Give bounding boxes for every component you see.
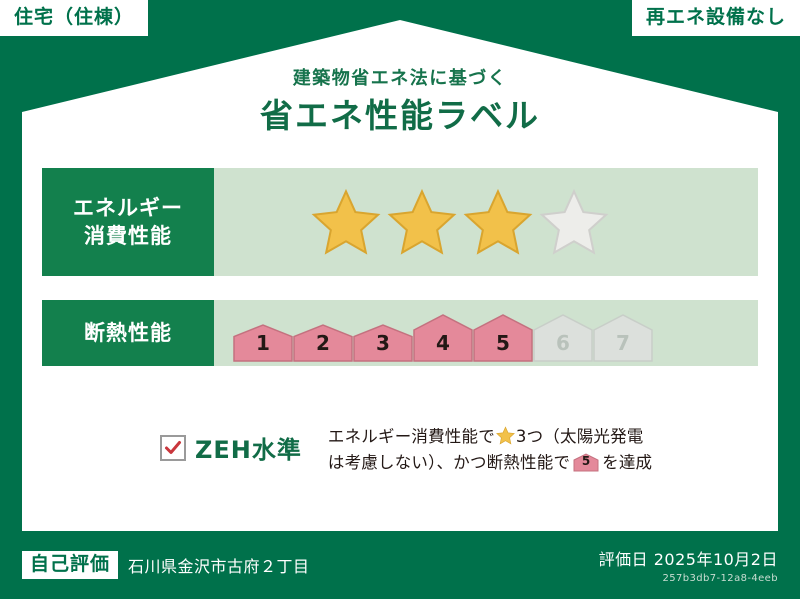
insulation-performance-value: 1234567 xyxy=(214,300,758,366)
footer-left: 自己評価 石川県金沢市古府２丁目 xyxy=(22,551,310,579)
zeh-standard-row: ZEH水準 エネルギー消費性能で 3つ（太陽光発電 は考慮しない）、かつ断熱性能… xyxy=(42,424,758,475)
insulation-grade-value: 4 xyxy=(412,331,474,355)
zeh-desc-part2: 3つ（太陽光発電 xyxy=(516,427,644,446)
star-icon-filled xyxy=(386,187,458,257)
evaluation-date: 評価日 2025年10月2日 xyxy=(599,546,778,570)
document-id: 257b3db7-12a8-4eeb xyxy=(599,573,778,584)
building-type-badge: 住宅（住棟） xyxy=(0,0,148,36)
energy-performance-row: エネルギー 消費性能 xyxy=(42,168,758,276)
insulation-label-text: 断熱性能 xyxy=(84,319,172,347)
energy-performance-label: エネルギー 消費性能 xyxy=(42,168,214,276)
star-icon-empty xyxy=(538,187,610,257)
star-icon xyxy=(496,426,515,445)
energy-performance-label: 住宅（住棟） 再エネ設備なし 建築物省エネ法に基づく 省エネ性能ラベル エネルギ… xyxy=(0,0,800,599)
zeh-desc-part1: エネルギー消費性能で xyxy=(328,427,495,446)
insulation-grade-5: 5 xyxy=(472,313,534,363)
zeh-desc-part3: は考慮しない）、かつ断熱性能で xyxy=(328,453,570,472)
insulation-grade-1: 1 xyxy=(232,323,294,363)
zeh-standard-name: ZEH水準 xyxy=(195,430,302,465)
zeh-desc-part4: を達成 xyxy=(602,453,652,472)
insulation-grade-7: 7 xyxy=(592,313,654,363)
star-rating xyxy=(310,187,610,257)
insulation-grade-value: 6 xyxy=(532,331,594,355)
insulation-performance-label: 断熱性能 xyxy=(42,300,214,366)
renewable-energy-badge: 再エネ設備なし xyxy=(632,0,800,36)
zeh-mark: ZEH水準 xyxy=(160,430,302,465)
footer-right: 評価日 2025年10月2日 257b3db7-12a8-4eeb xyxy=(599,546,778,584)
zeh-desc-grade-value: 5 xyxy=(573,452,599,471)
insulation-grade-3: 3 xyxy=(352,323,414,363)
insulation-grade-value: 5 xyxy=(472,331,534,355)
insulation-grade-value: 3 xyxy=(352,331,414,355)
insulation-grade-value: 1 xyxy=(232,331,294,355)
footer: 自己評価 石川県金沢市古府２丁目 評価日 2025年10月2日 257b3db7… xyxy=(0,531,800,599)
insulation-grade-value: 7 xyxy=(592,331,654,355)
insulation-performance-row: 断熱性能 1234567 xyxy=(42,300,758,366)
zeh-checkbox[interactable] xyxy=(160,435,186,461)
star-icon-filled xyxy=(462,187,534,257)
insulation-grade-scale: 1234567 xyxy=(232,297,652,369)
zeh-description: エネルギー消費性能で 3つ（太陽光発電 は考慮しない）、かつ断熱性能で 5 を達… xyxy=(328,424,758,475)
energy-label-line1: エネルギー xyxy=(73,194,183,222)
evaluation-type-badge: 自己評価 xyxy=(22,551,118,579)
zeh-desc-grade-badge: 5 xyxy=(573,453,599,472)
energy-label-line2: 消費性能 xyxy=(84,222,172,250)
insulation-grade-4: 4 xyxy=(412,313,474,363)
insulation-grade-2: 2 xyxy=(292,323,354,363)
property-address: 石川県金沢市古府２丁目 xyxy=(128,553,310,577)
check-icon xyxy=(164,439,182,457)
energy-performance-value xyxy=(214,168,758,276)
insulation-grade-value: 2 xyxy=(292,331,354,355)
star-icon-filled xyxy=(310,187,382,257)
insulation-grade-6: 6 xyxy=(532,313,594,363)
